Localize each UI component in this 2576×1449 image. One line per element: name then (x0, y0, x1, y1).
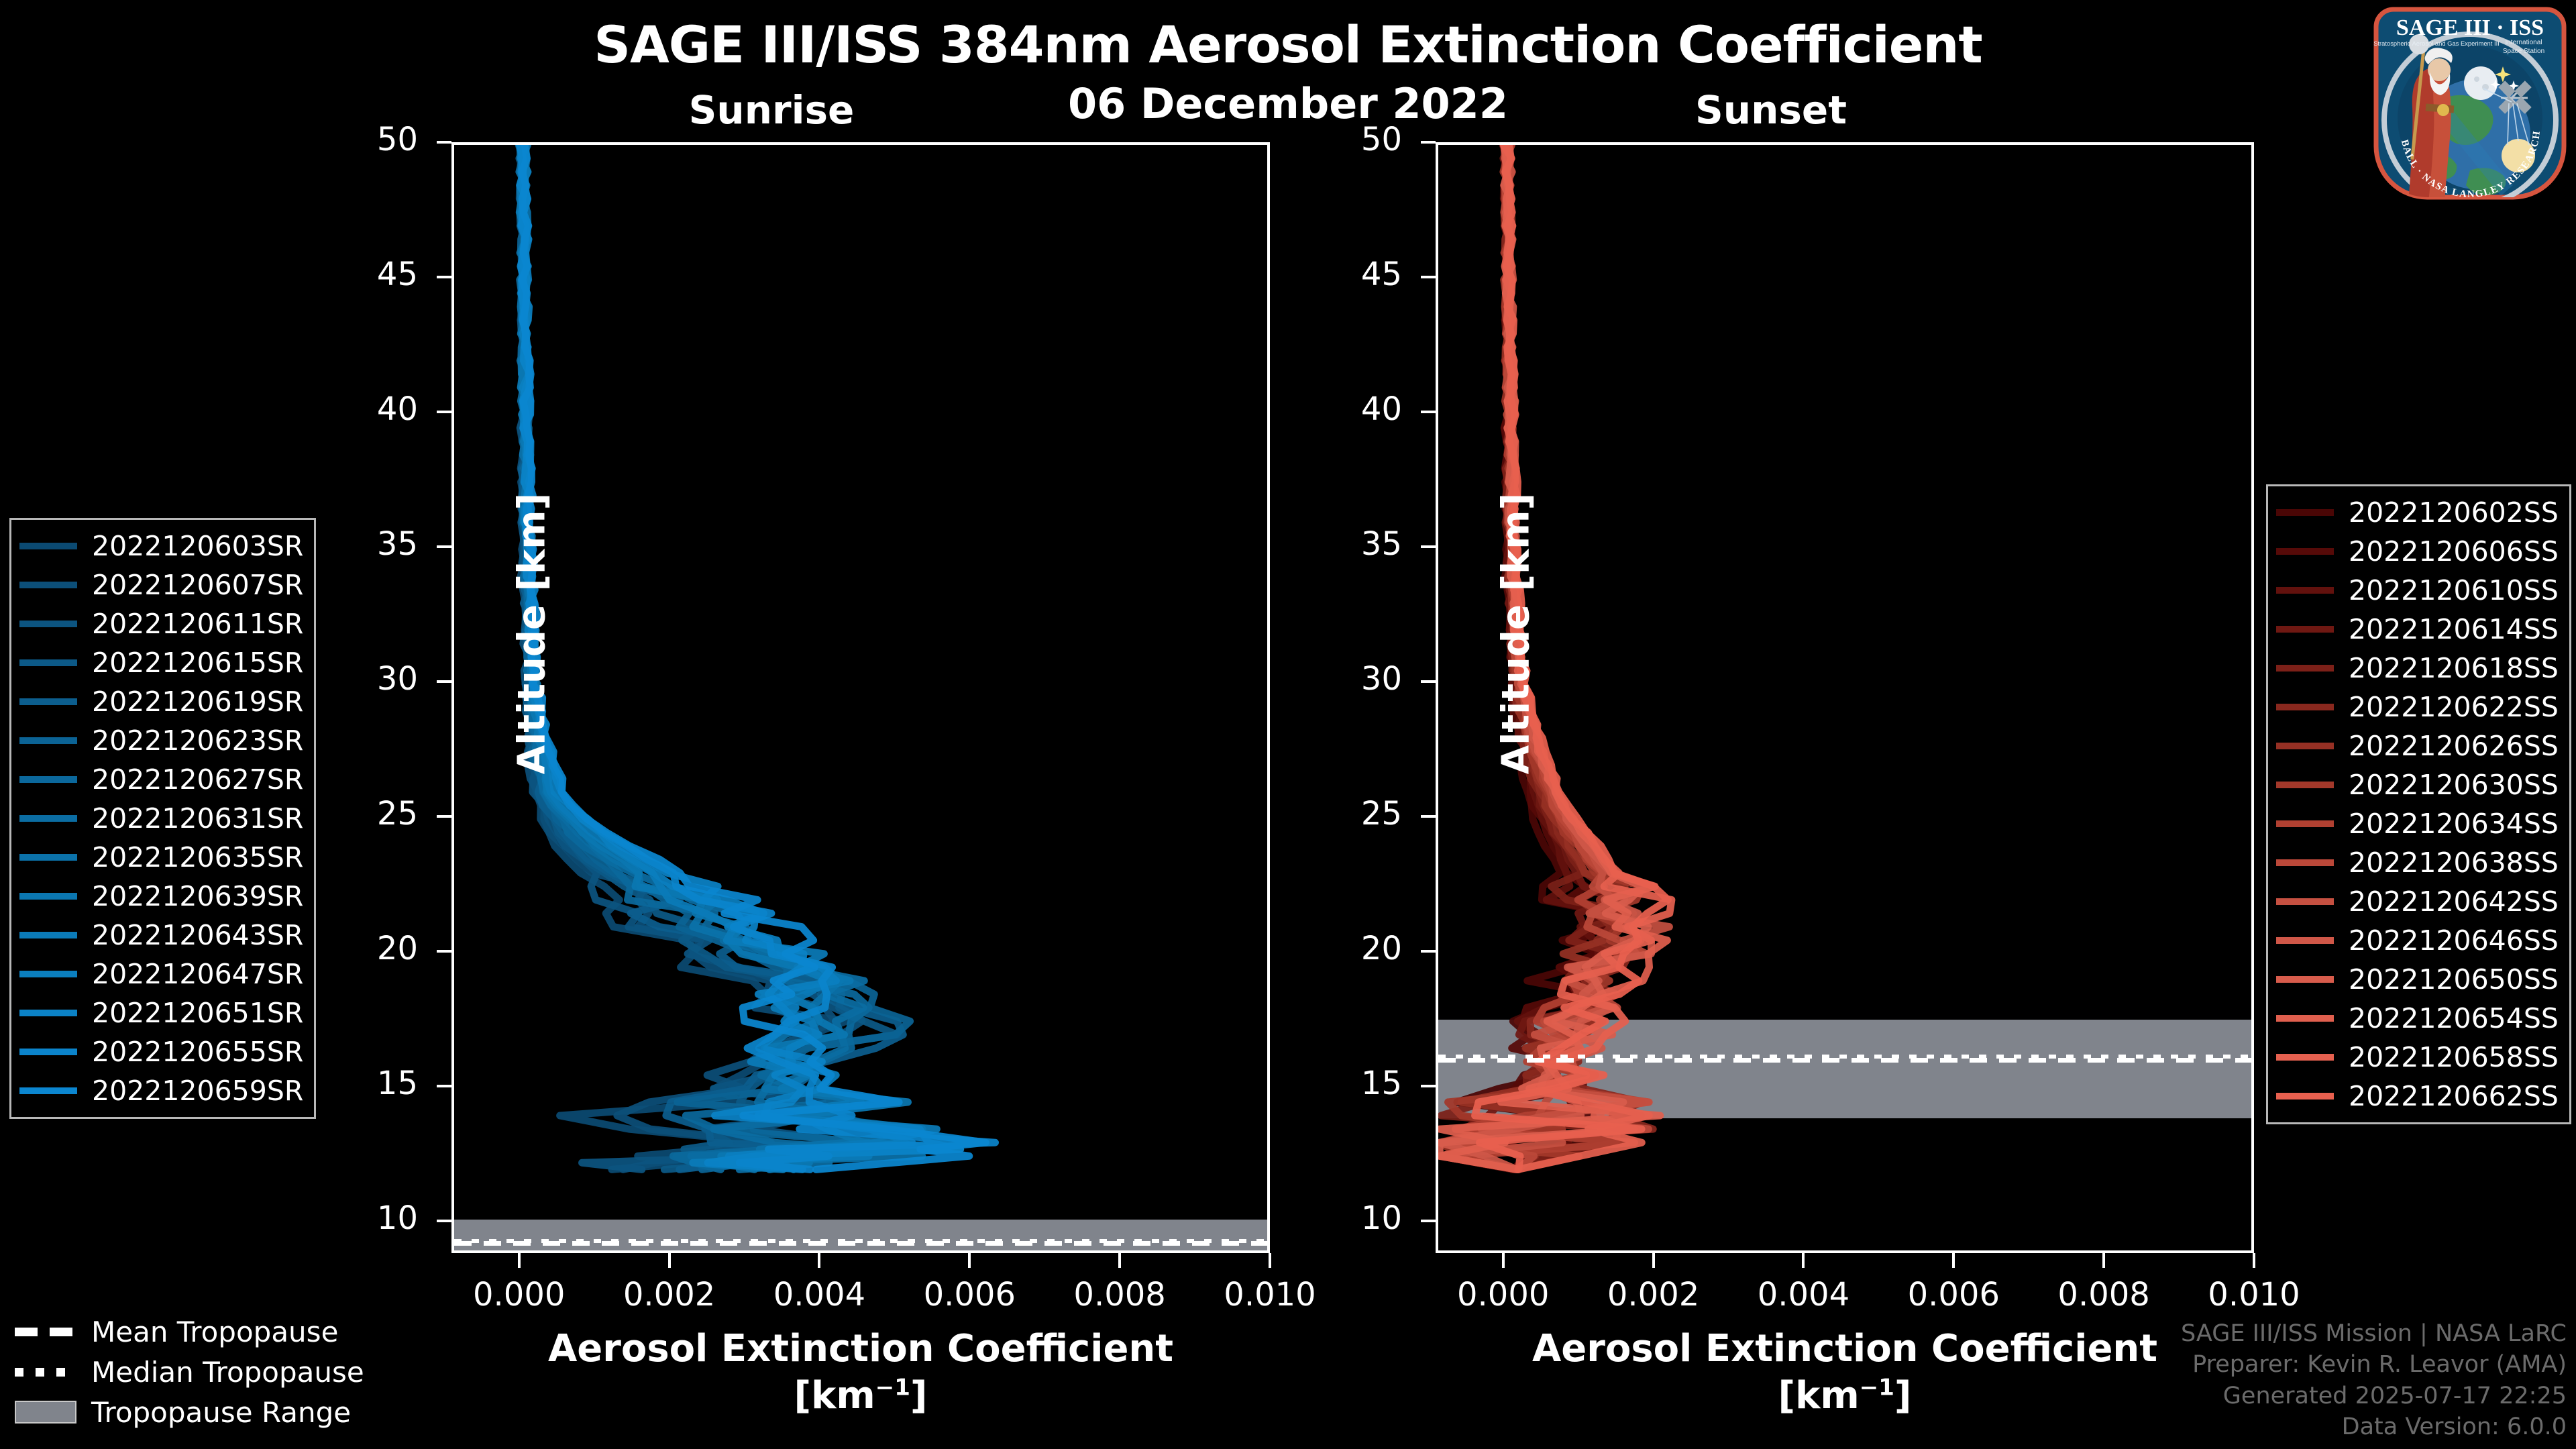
legend-item-tropopause-range: Tropopause Range (15, 1392, 364, 1432)
legend-color-swatch (2276, 1093, 2334, 1099)
sunset-yaxis-title-wrap: Altitude [km] (1436, 142, 1436, 1253)
sunset-axis-ticks: 5045403530252015100.0000.0020.0040.0060.… (0, 0, 2576, 1449)
legend-color-swatch (2276, 626, 2334, 633)
sunrise-legend-item[interactable]: 2022120623SR (19, 721, 303, 760)
dashed-line-icon (15, 1328, 76, 1336)
sunrise-legend-item[interactable]: 2022120627SR (19, 760, 303, 799)
sunset-legend-item[interactable]: 2022120658SS (2276, 1038, 2559, 1077)
legend-color-swatch (19, 543, 77, 549)
logo-title: SAGE III · ISS (2396, 15, 2544, 40)
sunset-legend-item[interactable]: 2022120662SS (2276, 1077, 2559, 1116)
y-axis-tick-label: 10 (1301, 1199, 1402, 1237)
legend-color-swatch (2276, 509, 2334, 516)
legend-color-swatch (2276, 859, 2334, 866)
legend-color-swatch (19, 776, 77, 783)
legend-label: 2022120618SS (2349, 652, 2559, 684)
y-axis-tick-label: 45 (1301, 256, 1402, 293)
legend-label: 2022120614SS (2349, 613, 2559, 645)
sunrise-legend-item[interactable]: 2022120615SR (19, 643, 303, 682)
sunrise-legend-item[interactable]: 2022120631SR (19, 799, 303, 838)
legend-color-swatch (19, 854, 77, 861)
legend-color-swatch (2276, 782, 2334, 788)
legend-label: 2022120634SS (2349, 808, 2559, 840)
legend-label: 2022120606SS (2349, 535, 2559, 568)
tropopause-legend: Mean Tropopause Median Tropopause Tropop… (15, 1311, 364, 1432)
legend-label: 2022120603SR (92, 530, 303, 562)
legend-label: 2022120619SR (92, 686, 303, 718)
x-axis-tick-label: 0.006 (1866, 1276, 2041, 1313)
sunset-legend-item[interactable]: 2022120602SS (2276, 493, 2559, 532)
logo-subtitle-left: Stratospheric Aerosol and Gas Experiment… (2373, 40, 2500, 47)
footer-generated: Generated 2025-07-17 22:25 (2181, 1381, 2567, 1411)
legend-label: 2022120659SR (92, 1075, 303, 1107)
legend-item-median-tropopause: Median Tropopause (15, 1352, 364, 1392)
legend-color-swatch (19, 582, 77, 588)
logo-subtitle-right-2: Space Station (2503, 48, 2544, 55)
legend-color-swatch (2276, 743, 2334, 749)
sunset-legend-item[interactable]: 2022120650SS (2276, 960, 2559, 999)
legend-label: 2022120662SS (2349, 1080, 2559, 1112)
logo-subtitle-right-1: International (2505, 39, 2542, 46)
legend-label: 2022120627SR (92, 763, 303, 796)
sunset-legend-item[interactable]: 2022120626SS (2276, 727, 2559, 765)
y-axis-tick (1421, 680, 1436, 683)
legend-color-swatch (2276, 898, 2334, 905)
sunset-yaxis-title: Altitude [km] (1495, 460, 1538, 808)
legend-color-swatch (2276, 665, 2334, 672)
sunset-xaxis-units: [km−1] (1436, 1374, 2254, 1417)
sunset-legend-item[interactable]: 2022120618SS (2276, 649, 2559, 688)
sunrise-legend-item[interactable]: 2022120651SR (19, 994, 303, 1032)
legend-color-swatch (19, 659, 77, 666)
legend-color-swatch (2276, 820, 2334, 827)
sunset-legend-item[interactable]: 2022120614SS (2276, 610, 2559, 649)
sunrise-legend-item[interactable]: 2022120643SR (19, 916, 303, 955)
legend-label: 2022120626SS (2349, 730, 2559, 762)
sunset-legend[interactable]: 2022120602SS2022120606SS2022120610SS2022… (2266, 484, 2571, 1124)
sunrise-legend-item[interactable]: 2022120639SR (19, 877, 303, 916)
y-axis-tick-label: 35 (1301, 525, 1402, 563)
x-axis-tick-label: 0.000 (1416, 1276, 1591, 1313)
legend-label: 2022120655SR (92, 1036, 303, 1068)
footer-mission: SAGE III/ISS Mission | NASA LaRC (2181, 1318, 2567, 1349)
legend-label: 2022120607SR (92, 569, 303, 601)
legend-label: 2022120651SR (92, 997, 303, 1029)
legend-label-mean: Mean Tropopause (91, 1316, 338, 1348)
legend-label: 2022120622SS (2349, 691, 2559, 723)
sunrise-legend-item[interactable]: 2022120647SR (19, 955, 303, 994)
sunset-xaxis-title: Aerosol Extinction Coefficient (1436, 1327, 2254, 1371)
legend-label: 2022120646SS (2349, 924, 2559, 957)
legend-color-swatch (2276, 1054, 2334, 1061)
legend-label-median: Median Tropopause (91, 1356, 364, 1389)
footer-credits: SAGE III/ISS Mission | NASA LaRC Prepare… (2181, 1318, 2567, 1442)
y-axis-tick (1421, 411, 1436, 413)
sunset-legend-item[interactable]: 2022120634SS (2276, 804, 2559, 843)
sunrise-legend-item[interactable]: 2022120611SR (19, 604, 303, 643)
x-axis-tick (1502, 1253, 1505, 1268)
legend-label-range: Tropopause Range (91, 1396, 351, 1429)
x-axis-tick-label: 0.010 (2167, 1276, 2341, 1313)
sunrise-legend-item[interactable]: 2022120659SR (19, 1071, 303, 1110)
legend-color-swatch (2276, 976, 2334, 983)
legend-item-mean-tropopause: Mean Tropopause (15, 1311, 364, 1352)
sunset-legend-item[interactable]: 2022120622SS (2276, 688, 2559, 727)
sunrise-legend-item[interactable]: 2022120607SR (19, 566, 303, 604)
sunrise-legend[interactable]: 2022120603SR2022120607SR2022120611SR2022… (9, 518, 316, 1119)
footer-version: Data Version: 6.0.0 (2181, 1411, 2567, 1442)
legend-color-swatch (19, 1087, 77, 1094)
legend-label: 2022120615SR (92, 647, 303, 679)
sunrise-legend-item[interactable]: 2022120655SR (19, 1032, 303, 1071)
x-axis-tick (1952, 1253, 1955, 1268)
dotted-line-icon (15, 1368, 76, 1377)
legend-label: 2022120602SS (2349, 496, 2559, 529)
sunset-legend-item[interactable]: 2022120606SS (2276, 532, 2559, 571)
sunset-legend-item[interactable]: 2022120638SS (2276, 843, 2559, 882)
y-axis-tick (1421, 1220, 1436, 1222)
sunset-legend-item[interactable]: 2022120654SS (2276, 999, 2559, 1038)
legend-label: 2022120642SS (2349, 885, 2559, 918)
y-axis-tick (1421, 545, 1436, 548)
legend-color-swatch (19, 893, 77, 900)
legend-color-swatch (19, 1049, 77, 1055)
y-axis-tick-label: 25 (1301, 795, 1402, 833)
x-axis-tick (1802, 1253, 1805, 1268)
footer-preparer: Preparer: Kevin R. Leavor (AMA) (2181, 1349, 2567, 1380)
legend-color-swatch (19, 621, 77, 627)
x-axis-tick-label: 0.008 (2017, 1276, 2191, 1313)
sunset-legend-item[interactable]: 2022120642SS (2276, 882, 2559, 921)
legend-color-swatch (2276, 937, 2334, 944)
y-axis-tick-label: 20 (1301, 930, 1402, 967)
legend-color-swatch (2276, 587, 2334, 594)
sunset-legend-item[interactable]: 2022120610SS (2276, 571, 2559, 610)
legend-label: 2022120654SS (2349, 1002, 2559, 1034)
legend-label: 2022120635SR (92, 841, 303, 873)
legend-label: 2022120650SS (2349, 963, 2559, 996)
legend-color-swatch (2276, 1015, 2334, 1022)
y-axis-tick-label: 40 (1301, 390, 1402, 428)
y-axis-tick (1421, 815, 1436, 818)
legend-label: 2022120639SR (92, 880, 303, 912)
legend-color-swatch (19, 971, 77, 977)
y-axis-tick (1421, 1085, 1436, 1087)
y-axis-tick-label: 15 (1301, 1065, 1402, 1102)
y-axis-tick-label: 50 (1301, 121, 1402, 158)
legend-color-swatch (2276, 548, 2334, 555)
x-axis-tick-label: 0.002 (1566, 1276, 1741, 1313)
y-axis-tick (1421, 141, 1436, 144)
sunset-legend-item[interactable]: 2022120630SS (2276, 765, 2559, 804)
y-axis-tick (1421, 276, 1436, 278)
legend-label: 2022120610SS (2349, 574, 2559, 606)
legend-color-swatch (19, 815, 77, 822)
legend-color-swatch (19, 737, 77, 744)
legend-color-swatch (19, 932, 77, 938)
sunrise-legend-item[interactable]: 2022120635SR (19, 838, 303, 877)
band-swatch-icon (15, 1401, 76, 1424)
legend-label: 2022120630SS (2349, 769, 2559, 801)
legend-label: 2022120623SR (92, 724, 303, 757)
sunrise-legend-item[interactable]: 2022120619SR (19, 682, 303, 721)
sage-iii-iss-logo: BALL · NASA LANGLEY RESEARCH CENTER · TA… (2369, 3, 2571, 204)
x-axis-tick (1652, 1253, 1655, 1268)
legend-label: 2022120643SR (92, 919, 303, 951)
x-axis-tick-label: 0.004 (1716, 1276, 1890, 1313)
y-axis-tick (1421, 950, 1436, 953)
y-axis-tick-label: 30 (1301, 660, 1402, 698)
x-axis-tick (2253, 1253, 2255, 1268)
legend-color-swatch (2276, 704, 2334, 710)
sunset-legend-item[interactable]: 2022120646SS (2276, 921, 2559, 960)
legend-label: 2022120658SS (2349, 1041, 2559, 1073)
legend-label: 2022120611SR (92, 608, 303, 640)
x-axis-tick (2102, 1253, 2105, 1268)
legend-color-swatch (19, 698, 77, 705)
legend-label: 2022120631SR (92, 802, 303, 835)
sunrise-legend-item[interactable]: 2022120603SR (19, 527, 303, 566)
legend-label: 2022120638SS (2349, 847, 2559, 879)
legend-color-swatch (19, 1010, 77, 1016)
legend-label: 2022120647SR (92, 958, 303, 990)
